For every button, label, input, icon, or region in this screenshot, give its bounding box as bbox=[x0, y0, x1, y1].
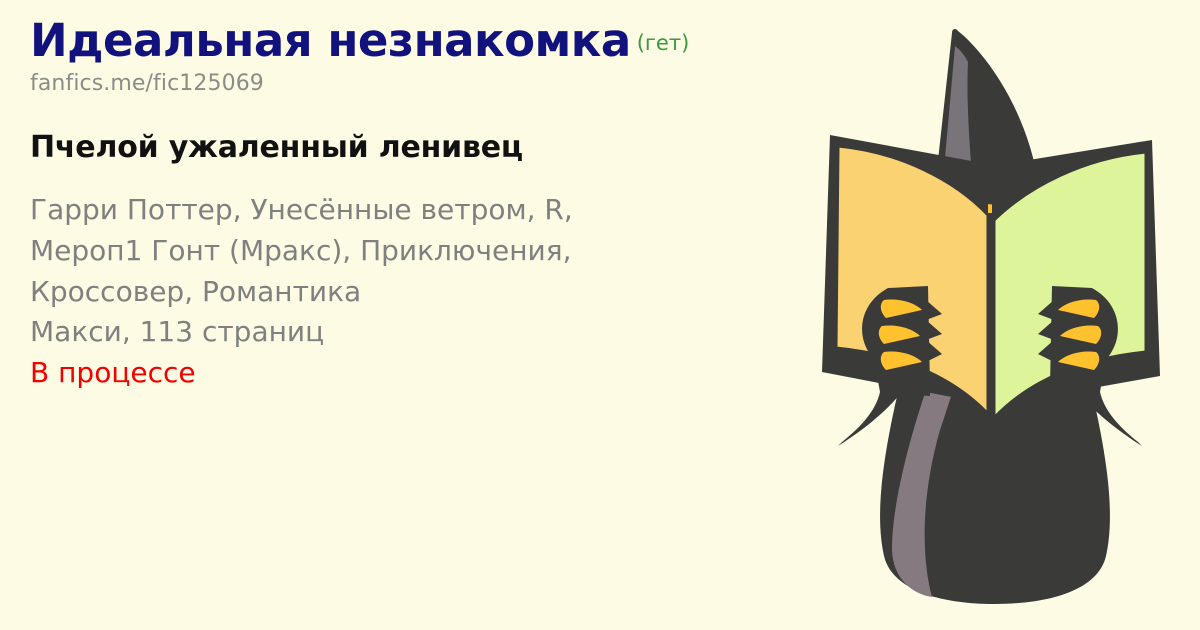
meta-line: Макси, 113 страниц bbox=[30, 312, 850, 353]
witch-reading-book-icon bbox=[780, 0, 1200, 630]
meta-line: Кроссовер, Романтика bbox=[30, 272, 850, 313]
fic-title-row: Идеальная незнакомка(гет) bbox=[30, 18, 850, 65]
fic-text-column: Идеальная незнакомка(гет) fanfics.me/fic… bbox=[30, 18, 850, 394]
fic-category-badge: (гет) bbox=[637, 31, 690, 55]
page-title: Идеальная незнакомка bbox=[30, 14, 631, 67]
book-spine bbox=[988, 213, 993, 418]
fic-meta-block: Гарри Поттер, Унесённые ветром, R, Мероп… bbox=[30, 190, 850, 394]
fic-author: Пчелой ужаленный ленивец bbox=[30, 130, 850, 165]
fic-card: Идеальная незнакомка(гет) fanfics.me/fic… bbox=[0, 0, 1200, 630]
fic-url: fanfics.me/fic125069 bbox=[30, 71, 850, 96]
meta-line: Гарри Поттер, Унесённые ветром, R, bbox=[30, 190, 850, 231]
status-badge: В процессе bbox=[30, 353, 850, 394]
witch-reading-book-illustration bbox=[780, 0, 1200, 630]
meta-line: Мероп1 Гонт (Мракс), Приключения, bbox=[30, 231, 850, 272]
